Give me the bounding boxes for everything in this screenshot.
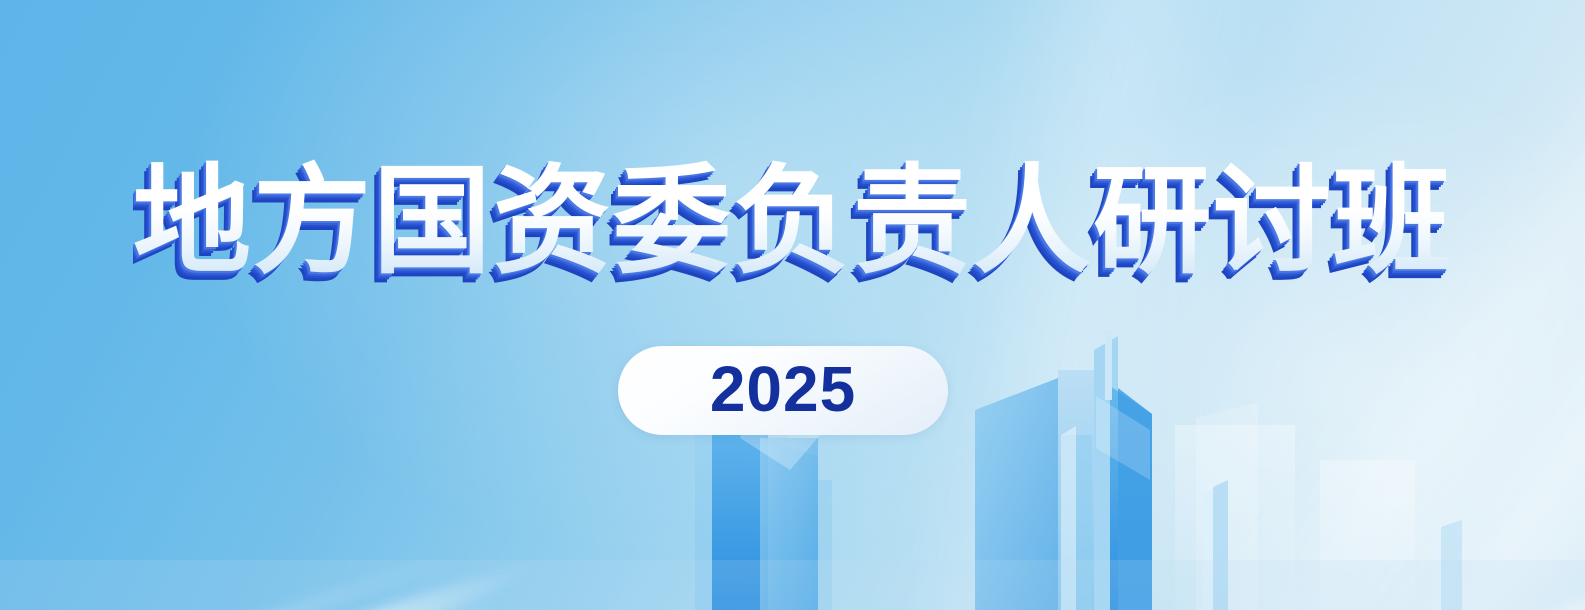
title-text: 地方国资委负责人研讨班	[133, 152, 1453, 290]
event-banner: 地方国资委负责人研讨班 地方国资委负责人研讨班 地方国资委负责人研讨班 地方国资…	[0, 0, 1585, 610]
page-title: 地方国资委负责人研讨班 地方国资委负责人研讨班 地方国资委负责人研讨班 地方国资…	[0, 150, 1585, 300]
year-badge-label: 2025	[710, 357, 856, 424]
year-badge: 2025	[618, 346, 948, 435]
